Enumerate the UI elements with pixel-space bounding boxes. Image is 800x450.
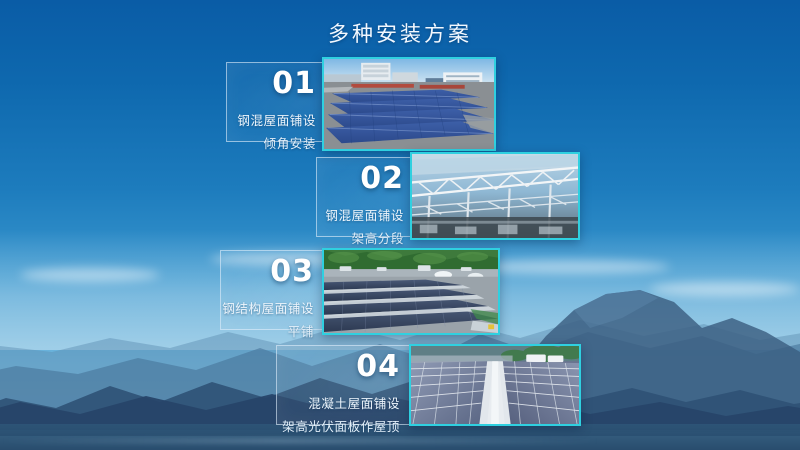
- plan-card-01-number: 01: [237, 69, 316, 99]
- plan-card-02-line1: 钢混屋面铺设: [325, 205, 404, 224]
- plan-card-02-line2: 架高分段: [325, 228, 404, 247]
- plan-card-04-text-panel: 04 混凝土屋面铺设 架高光伏面板作屋顶: [276, 345, 410, 425]
- plan-card-03-number: 03: [222, 257, 314, 287]
- slide-canvas: 多种安装方案 01 钢混屋面铺设 倾角安装: [0, 0, 800, 450]
- plan-card-01-text-panel: 01 钢混屋面铺设 倾角安装: [226, 62, 326, 142]
- plan-card-01-photo[interactable]: [322, 57, 496, 151]
- plan-card-03-line2: 平铺: [222, 321, 314, 340]
- plan-card-02-text-panel: 02 钢混屋面铺设 架高分段: [316, 157, 414, 237]
- plan-card-03-line1: 钢结构屋面铺设: [222, 298, 314, 317]
- plan-card-04-photo[interactable]: [409, 344, 581, 426]
- plan-card-03-text-panel: 03 钢结构屋面铺设 平铺: [220, 250, 324, 330]
- plan-card-02-number: 02: [325, 164, 404, 194]
- page-title: 多种安装方案: [0, 18, 800, 48]
- plan-card-04-number: 04: [282, 352, 400, 382]
- plan-card-04-line2: 架高光伏面板作屋顶: [282, 416, 400, 435]
- plan-card-04-line1: 混凝土屋面铺设: [282, 393, 400, 412]
- lake-reflection: [0, 438, 800, 444]
- plan-card-01-line1: 钢混屋面铺设: [237, 110, 316, 129]
- plan-card-02-photo[interactable]: [410, 152, 580, 240]
- lake-water: [0, 424, 800, 450]
- plan-card-03-photo[interactable]: [322, 248, 500, 335]
- plan-card-01-line2: 倾角安装: [237, 133, 316, 152]
